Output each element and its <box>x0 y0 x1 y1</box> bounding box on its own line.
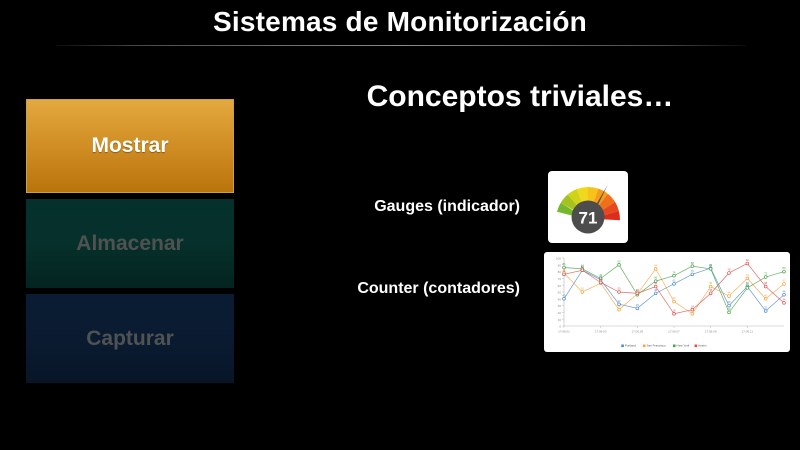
svg-text:46: 46 <box>783 289 786 293</box>
svg-text:San Francisco: San Francisco <box>646 344 666 348</box>
svg-text:32: 32 <box>618 299 621 303</box>
svg-text:70: 70 <box>599 273 602 277</box>
svg-text:70: 70 <box>746 273 749 277</box>
svg-text:17:06:05: 17:06:05 <box>631 330 643 334</box>
svg-text:76: 76 <box>691 269 694 273</box>
svg-text:40: 40 <box>764 293 767 297</box>
svg-text:72: 72 <box>764 272 767 276</box>
svg-text:New York: New York <box>677 344 690 348</box>
page-title: Sistemas de Monitorización <box>0 6 800 38</box>
svg-text:84: 84 <box>654 263 657 267</box>
sidebar-item-label: Capturar <box>86 327 174 351</box>
section-title: Conceptos triviales… <box>290 80 750 114</box>
svg-text:18: 18 <box>673 308 676 312</box>
line-chart: 100908070605040302010017:06:0117:06:0317… <box>544 252 790 352</box>
svg-text:70: 70 <box>558 277 562 281</box>
svg-text:17:06:11: 17:06:11 <box>742 330 754 334</box>
svg-text:50: 50 <box>618 287 621 291</box>
svg-text:10: 10 <box>558 318 562 322</box>
svg-text:62: 62 <box>673 278 676 282</box>
svg-text:86: 86 <box>563 262 566 266</box>
svg-text:90: 90 <box>618 259 621 263</box>
svg-text:20: 20 <box>558 311 562 315</box>
sidebar-item-label: Almacenar <box>76 232 183 256</box>
svg-text:88: 88 <box>691 261 694 265</box>
sidebar: Mostrar Almacenar Capturar <box>26 99 234 383</box>
svg-text:36: 36 <box>673 296 676 300</box>
svg-text:17:06:07: 17:06:07 <box>668 330 680 334</box>
svg-text:74: 74 <box>673 270 676 274</box>
svg-text:100: 100 <box>556 257 561 261</box>
svg-text:92: 92 <box>746 258 749 262</box>
sidebar-item-label: Mostrar <box>91 134 168 158</box>
svg-text:58: 58 <box>709 281 712 285</box>
svg-text:Portland: Portland <box>625 344 637 348</box>
svg-text:40: 40 <box>558 297 562 301</box>
slide-canvas: Sistemas de Monitorización Mostrar Almac… <box>0 0 800 450</box>
counter-chart-card: 100908070605040302010017:06:0117:06:0317… <box>544 252 790 352</box>
gauge-card: 71 <box>548 171 628 243</box>
sidebar-item-capturar[interactable]: Capturar <box>26 294 234 383</box>
svg-text:0: 0 <box>559 325 561 329</box>
svg-text:90: 90 <box>558 263 562 267</box>
svg-text:50: 50 <box>558 291 562 295</box>
svg-text:17:06:01: 17:06:01 <box>558 330 570 334</box>
svg-text:34: 34 <box>783 297 786 301</box>
svg-text:44: 44 <box>728 291 731 295</box>
concept-label-counter: Counter (contadores) <box>200 280 520 298</box>
sidebar-item-mostrar[interactable]: Mostrar <box>26 99 234 193</box>
svg-text:50: 50 <box>581 287 584 291</box>
svg-text:26: 26 <box>636 303 639 307</box>
svg-text:60: 60 <box>558 284 562 288</box>
svg-text:84: 84 <box>709 263 712 267</box>
svg-text:80: 80 <box>783 266 786 270</box>
svg-text:62: 62 <box>783 278 786 282</box>
svg-text:80: 80 <box>558 270 562 274</box>
svg-text:22: 22 <box>764 306 767 310</box>
svg-text:58: 58 <box>764 281 767 285</box>
concept-label-gauges: Gauges (indicador) <box>200 198 520 216</box>
svg-text:30: 30 <box>558 304 562 308</box>
svg-text:17:06:03: 17:06:03 <box>595 330 607 334</box>
svg-text:24: 24 <box>691 304 694 308</box>
svg-text:66: 66 <box>654 276 657 280</box>
svg-text:17:06:09: 17:06:09 <box>705 330 717 334</box>
svg-text:78: 78 <box>728 268 731 272</box>
svg-text:Austin: Austin <box>698 344 707 348</box>
gauge-icon: 71 <box>548 171 628 243</box>
title-divider <box>56 45 746 46</box>
gauge-value: 71 <box>579 209 598 228</box>
svg-text:48: 48 <box>636 288 639 292</box>
